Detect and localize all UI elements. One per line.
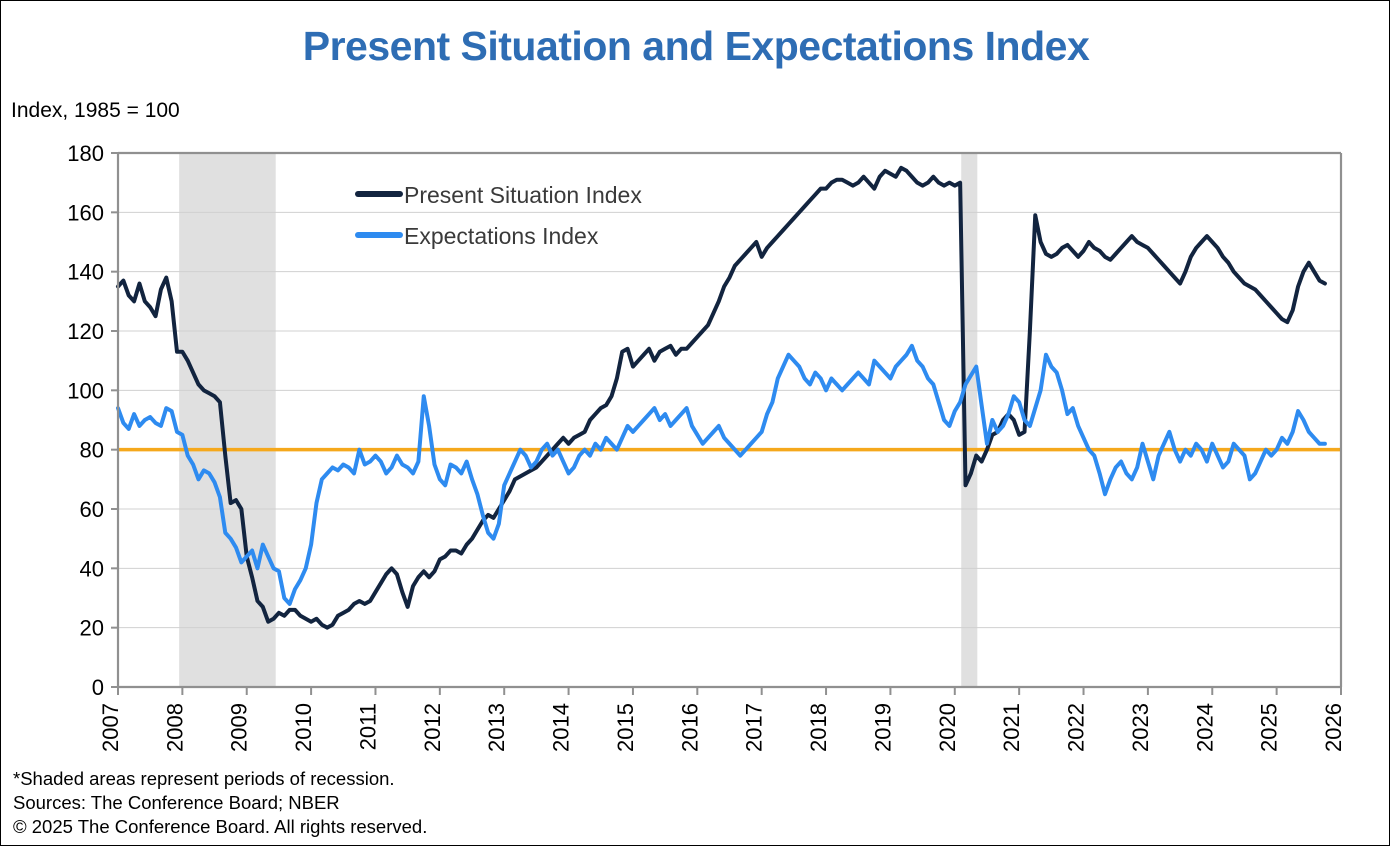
y-axis-ticks: 020406080100120140160180	[67, 141, 118, 700]
x-tick-label: 2018	[806, 703, 831, 752]
y-tick-label: 120	[67, 319, 104, 344]
x-axis-ticks: 2007200820092010201120122013201420152016…	[98, 687, 1346, 752]
y-tick-label: 140	[67, 260, 104, 285]
x-tick-label: 2026	[1321, 703, 1346, 752]
y-tick-label: 0	[92, 675, 104, 700]
x-tick-label: 2024	[1192, 703, 1217, 752]
y-tick-label: 40	[80, 556, 104, 581]
y-tick-label: 60	[80, 497, 104, 522]
data-series-group	[118, 168, 1325, 628]
x-tick-label: 2015	[613, 703, 638, 752]
legend-label: Expectations Index	[404, 223, 599, 249]
x-tick-label: 2010	[291, 703, 316, 752]
x-tick-label: 2014	[549, 703, 574, 752]
footnote-copyright: © 2025 The Conference Board. All rights …	[13, 815, 427, 839]
legend-label: Present Situation Index	[404, 182, 642, 208]
x-tick-label: 2017	[742, 703, 767, 752]
footnotes: *Shaded areas represent periods of reces…	[13, 767, 427, 839]
plot-frame	[118, 153, 1341, 687]
x-tick-label: 2009	[227, 703, 252, 752]
y-tick-label: 20	[80, 616, 104, 641]
x-tick-label: 2011	[355, 703, 380, 750]
x-tick-label: 2020	[935, 703, 960, 752]
chart-area: 020406080100120140160180 200720082009201…	[1, 1, 1390, 847]
footnote-sources: Sources: The Conference Board; NBER	[13, 791, 427, 815]
x-tick-label: 2023	[1128, 703, 1153, 752]
y-tick-label: 180	[67, 141, 104, 166]
x-tick-label: 2008	[162, 703, 187, 752]
series-line-present-situation	[118, 168, 1325, 628]
y-tick-label: 160	[67, 200, 104, 225]
x-tick-label: 2019	[870, 703, 895, 752]
series-line-expectations	[118, 346, 1325, 604]
x-tick-label: 2016	[677, 703, 702, 752]
x-tick-label: 2012	[420, 703, 445, 752]
x-tick-label: 2022	[1064, 703, 1089, 752]
x-tick-label: 2025	[1257, 703, 1282, 752]
x-tick-label: 2007	[98, 703, 123, 752]
y-tick-label: 100	[67, 378, 104, 403]
x-tick-label: 2021	[999, 703, 1024, 752]
y-tick-label: 80	[80, 438, 104, 463]
footnote-recession: *Shaded areas represent periods of reces…	[13, 767, 427, 791]
chart-legend: Present Situation IndexExpectations Inde…	[358, 182, 642, 249]
chart-svg: 020406080100120140160180 200720082009201…	[1, 1, 1390, 847]
x-tick-label: 2013	[484, 703, 509, 752]
